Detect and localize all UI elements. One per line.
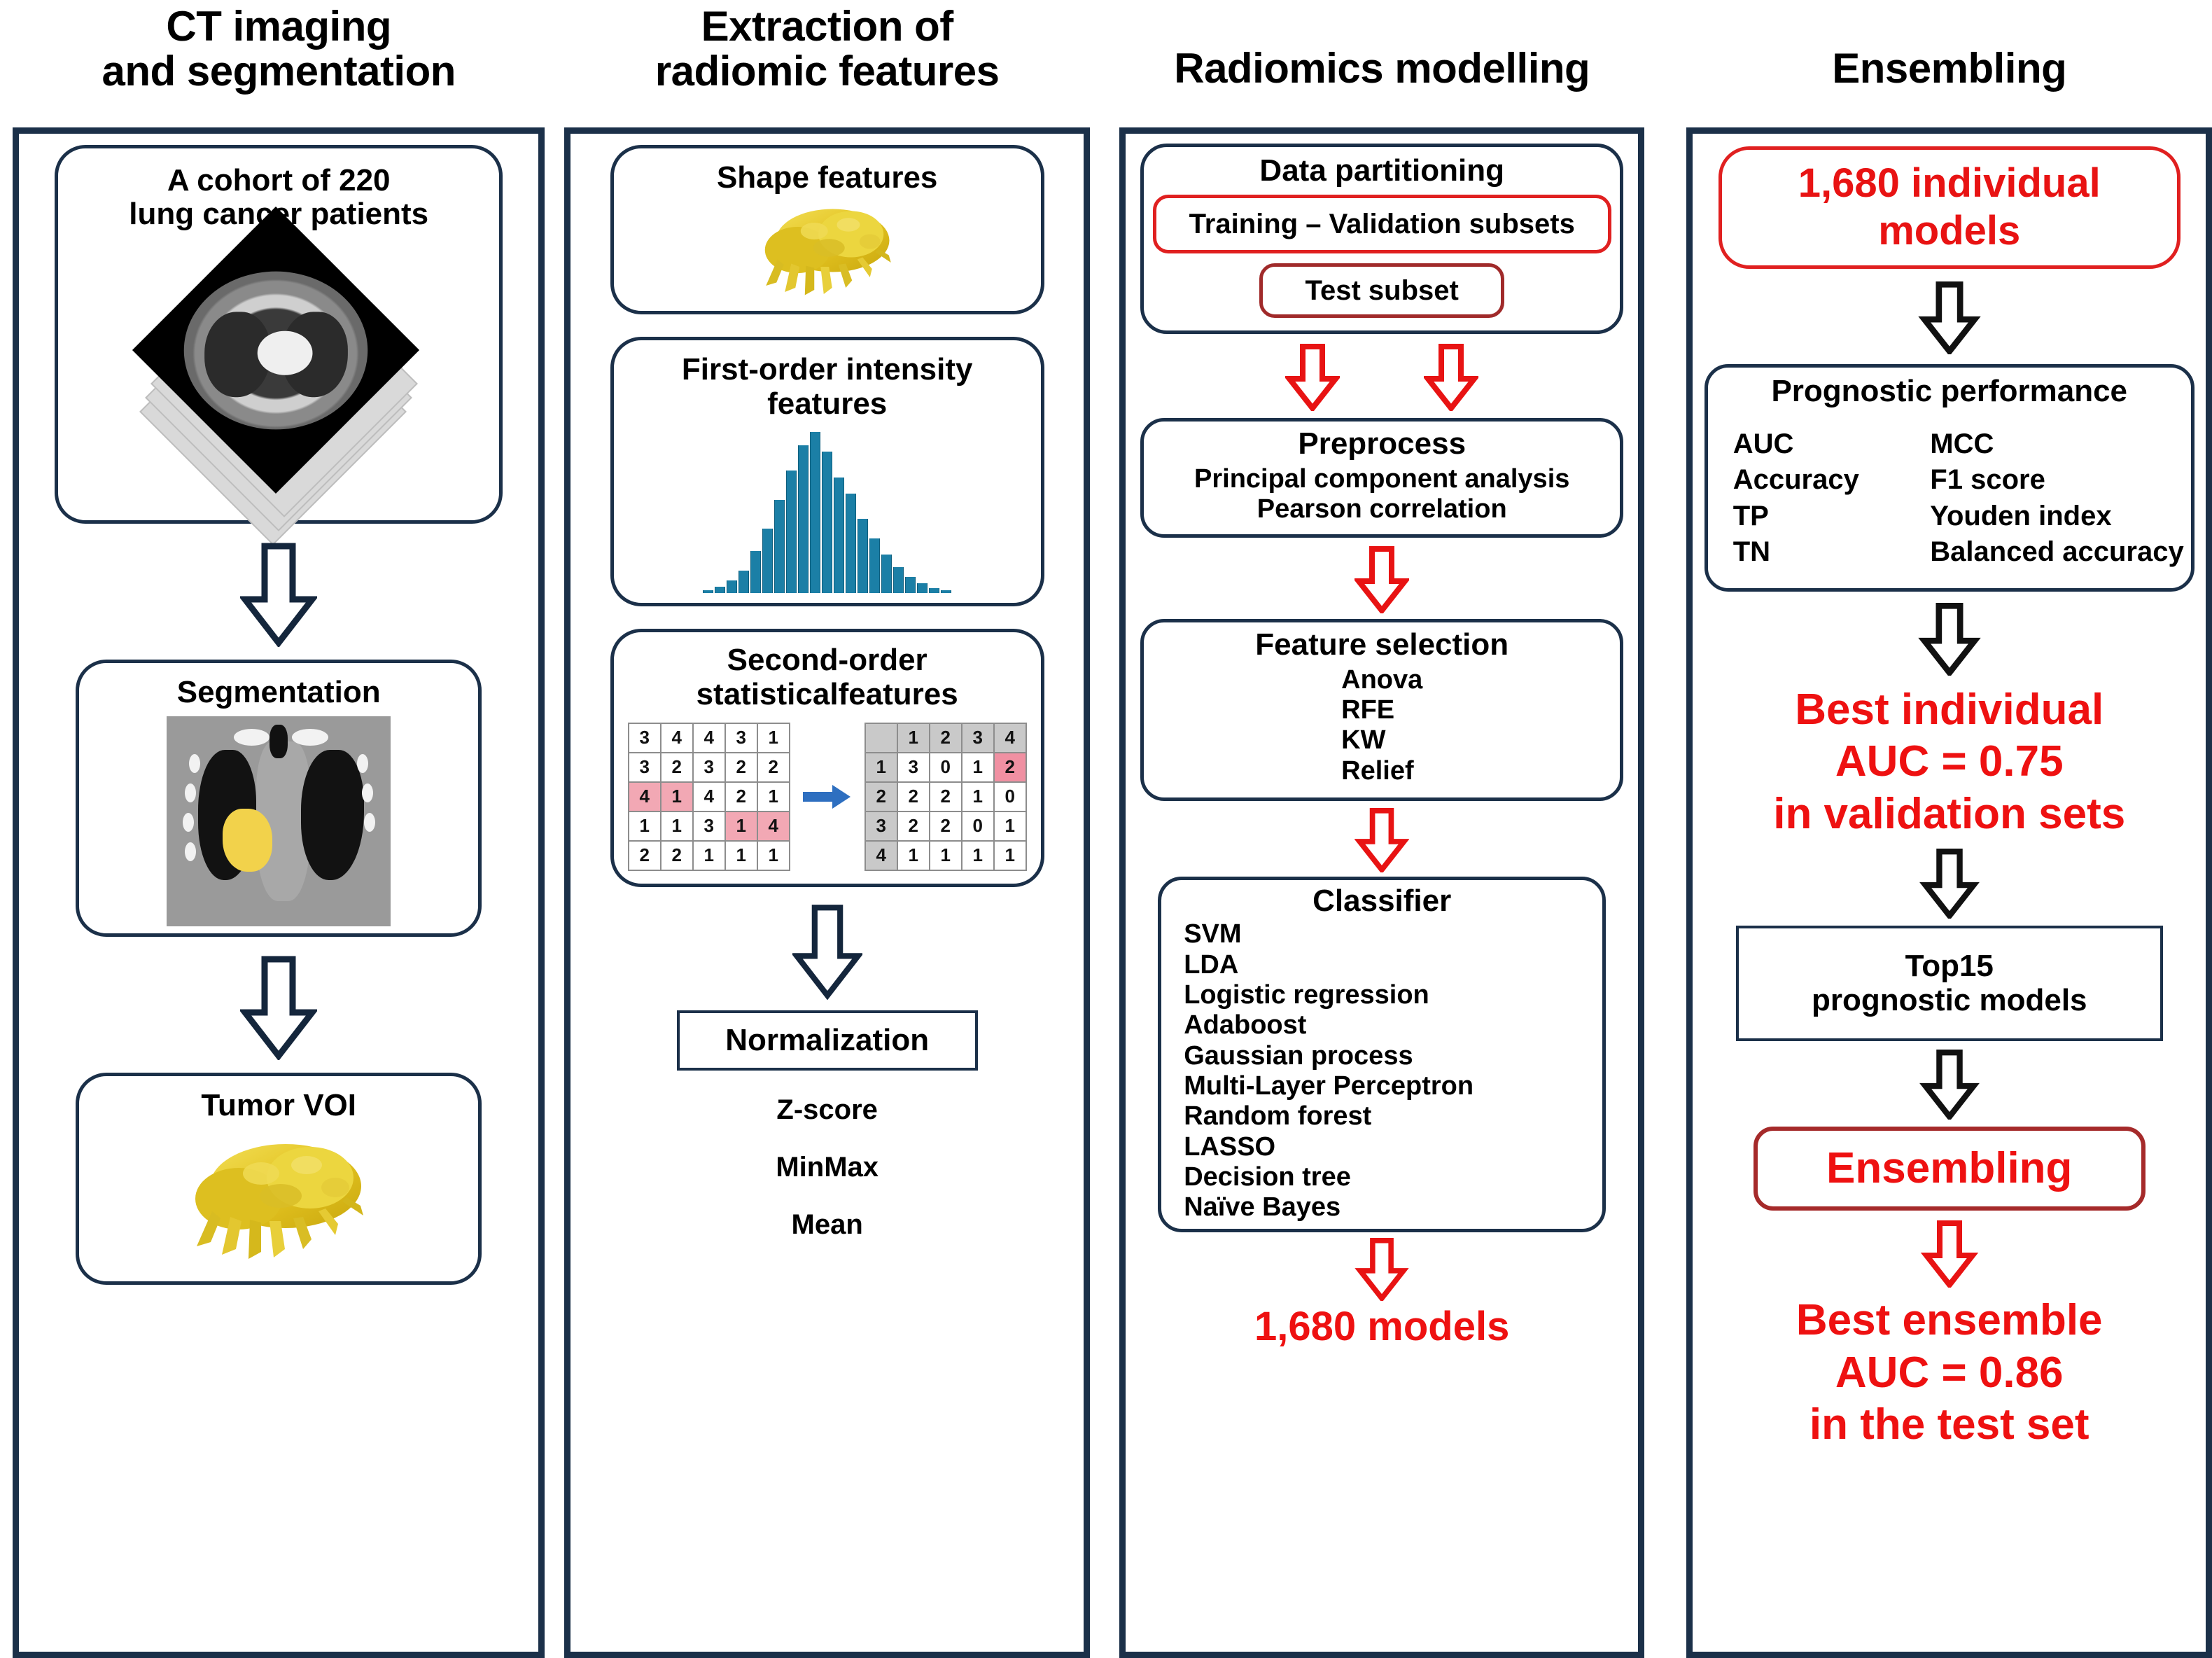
segmentation-ct-image xyxy=(167,716,391,926)
column-2-title: Extraction of radiomic features xyxy=(564,0,1090,127)
histogram-bar xyxy=(846,494,856,594)
classifier-item-4: Gaussian process xyxy=(1184,1041,1413,1071)
glcm-matrix-cell: 1 xyxy=(962,753,994,782)
column-2-title-line2: radiomic features xyxy=(655,49,1000,94)
segmentation-label: Segmentation xyxy=(177,676,381,709)
tumor-volume-icon xyxy=(163,1129,394,1269)
glcm-matrix-cell: 0 xyxy=(994,782,1026,811)
arrow-down-preprocess-to-feature-selection xyxy=(1354,546,1409,613)
histogram-bar xyxy=(929,588,939,593)
histogram-bar xyxy=(798,445,808,594)
glcm-patch-cell: 2 xyxy=(725,753,757,782)
histogram-bar xyxy=(810,432,820,593)
box-second-order-features: Second-order statisticalfeatures 3443132… xyxy=(610,629,1044,887)
second-order-label-line1: Second-order xyxy=(727,643,927,677)
glcm-patch-row: 34431 xyxy=(629,723,790,753)
glcm-header-row: 1234 xyxy=(865,723,1026,753)
box-preprocess: Preprocess Principal component analysis … xyxy=(1140,418,1623,538)
glcm-matrix-cell: 0 xyxy=(930,753,962,782)
glcm-patch-cell: 3 xyxy=(629,753,661,782)
glcm-patch-cell: 4 xyxy=(661,723,693,753)
glcm-patch-cell: 2 xyxy=(725,782,757,811)
glcm-patch-cell: 4 xyxy=(629,782,661,811)
glcm-col-header xyxy=(865,723,897,753)
ct-slice-stack-icon xyxy=(128,236,429,516)
glcm-matrix-row: 22210 xyxy=(865,782,1026,811)
data-partitioning-label: Data partitioning xyxy=(1259,154,1504,188)
glcm-patch-cell: 3 xyxy=(725,723,757,753)
glcm-matrix-cell: 1 xyxy=(930,841,962,870)
classifier-list: SVM LDA Logistic regression Adaboost Gau… xyxy=(1168,919,1595,1222)
metric-left-1: Accuracy xyxy=(1733,462,1907,498)
glcm-patch-cell: 1 xyxy=(693,841,725,870)
glcm-matrix-cell: 2 xyxy=(897,782,930,811)
glcm-matrix: 123413012222103220141111 xyxy=(864,723,1027,871)
intensity-histogram-chart xyxy=(703,432,951,593)
box-top15-models: Top15 prognostic models xyxy=(1736,926,2163,1041)
cohort-label-line1: A cohort of 220 xyxy=(167,164,391,197)
classifier-item-2: Logistic regression xyxy=(1184,980,1429,1010)
glcm-matrix-cell: 2 xyxy=(994,753,1026,782)
box-prognostic-performance: Prognostic performance AUC Accuracy TP T… xyxy=(1704,364,2194,592)
preprocess-item-0: Principal component analysis xyxy=(1194,464,1569,494)
metric-left-3: TN xyxy=(1733,534,1907,570)
panel-ct-imaging: A cohort of 220 lung cancer patients xyxy=(13,127,545,1658)
test-subset-label: Test subset xyxy=(1305,275,1459,307)
column-3-title: Radiomics modelling xyxy=(1119,0,1645,127)
arrow-down-cohort-to-segmentation xyxy=(240,542,317,647)
metrics-grid: AUC Accuracy TP TN MCC F1 score Youden i… xyxy=(1715,426,2184,570)
histogram-bar xyxy=(762,529,773,593)
histogram-bar xyxy=(857,519,868,593)
glcm-patch-cell: 3 xyxy=(629,723,661,753)
box-ensembling: Ensembling xyxy=(1753,1127,2145,1211)
classifier-item-3: Adaboost xyxy=(1184,1010,1306,1040)
glcm-patch-cell: 3 xyxy=(693,811,725,841)
glcm-matrix-cell: 3 xyxy=(897,753,930,782)
histogram-bar xyxy=(727,580,737,593)
glcm-col-header: 2 xyxy=(930,723,962,753)
glcm-patch-row: 41421 xyxy=(629,782,790,811)
arrow-down-red-right xyxy=(1424,344,1478,411)
histogram-bar xyxy=(834,478,844,594)
column-ct-imaging: CT imaging and segmentation A cohort of … xyxy=(13,0,545,1658)
best-ensemble-line3: in the test set xyxy=(1809,1399,2089,1451)
histogram-bar xyxy=(738,571,749,593)
column-feature-extraction: Extraction of radiomic features Shape fe… xyxy=(564,0,1090,1658)
glcm-row-header: 4 xyxy=(865,841,897,870)
arrow-down-top15-to-ensembling xyxy=(1919,1050,1980,1120)
box-data-partitioning: Data partitioning Training – Validation … xyxy=(1140,144,1623,334)
column-4-title: Ensembling xyxy=(1686,0,2212,127)
box-cohort: A cohort of 220 lung cancer patients xyxy=(55,145,503,524)
preprocess-label: Preprocess xyxy=(1298,427,1466,461)
individual-models-line2: models xyxy=(1878,207,2020,255)
models-total-label: 1,680 models xyxy=(1254,1302,1509,1351)
normalization-item-0: Z-score xyxy=(776,1089,878,1131)
glcm-matrix-cell: 0 xyxy=(962,811,994,841)
shape-features-label: Shape features xyxy=(717,161,937,195)
histogram-bar xyxy=(917,583,927,593)
glcm-matrix-cell: 1 xyxy=(962,841,994,870)
glcm-row-header: 2 xyxy=(865,782,897,811)
metric-right-2: Youden index xyxy=(1930,499,2183,534)
best-individual-block: Best individual AUC = 0.75 in validation… xyxy=(1773,684,2125,840)
glcm-col-header: 4 xyxy=(994,723,1026,753)
right-arrow-icon xyxy=(803,783,852,811)
metric-left-2: TP xyxy=(1733,499,1907,534)
panel-radiomics-modelling: Data partitioning Training – Validation … xyxy=(1119,127,1645,1658)
box-segmentation: Segmentation xyxy=(76,660,482,937)
training-validation-subsets-box: Training – Validation subsets xyxy=(1153,195,1611,253)
metric-right-3: Balanced accuracy xyxy=(1930,534,2183,570)
feature-selection-label: Feature selection xyxy=(1255,628,1508,662)
best-ensemble-line2: AUC = 0.86 xyxy=(1835,1347,2064,1399)
prognostic-performance-label: Prognostic performance xyxy=(1715,375,2184,408)
histogram-bar xyxy=(881,555,892,593)
top15-line1: Top15 xyxy=(1905,949,1994,983)
first-order-label-line1: First-order intensity xyxy=(682,353,973,386)
arrow-down-models-to-performance xyxy=(1918,281,1981,354)
glcm-matrix-row: 32201 xyxy=(865,811,1026,841)
panel-feature-extraction: Shape features xyxy=(564,127,1090,1658)
glcm-patch-cell: 4 xyxy=(693,723,725,753)
metric-right-0: MCC xyxy=(1930,426,2183,462)
glcm-patch-cell: 1 xyxy=(725,841,757,870)
tumor-voi-label: Tumor VOI xyxy=(201,1089,356,1122)
column-1-title: CT imaging and segmentation xyxy=(13,0,545,127)
feature-selection-item-1: RFE xyxy=(1341,695,1394,725)
glcm-matrix-cell: 1 xyxy=(994,811,1026,841)
normalization-label: Normalization xyxy=(725,1024,929,1057)
arrow-down-red-left xyxy=(1285,344,1340,411)
best-ensemble-block: Best ensemble AUC = 0.86 in the test set xyxy=(1796,1295,2103,1451)
histogram-bar xyxy=(774,500,785,593)
arrow-down-feature-selection-to-classifier xyxy=(1354,808,1409,872)
metrics-column-right: MCC F1 score Youden index Balanced accur… xyxy=(1930,426,2183,570)
glcm-patch-cell: 1 xyxy=(757,723,790,753)
glcm-patch-cell: 2 xyxy=(629,841,661,870)
histogram-bar xyxy=(703,590,713,594)
column-ensembling: Ensembling 1,680 individual models Progn… xyxy=(1686,0,2212,1658)
normalization-item-1: MinMax xyxy=(776,1146,878,1188)
histogram-bar xyxy=(893,567,904,593)
glcm-matrix-row: 13012 xyxy=(865,753,1026,782)
box-individual-models: 1,680 individual models xyxy=(1718,146,2180,269)
box-shape-features: Shape features xyxy=(610,145,1044,314)
classifier-item-1: LDA xyxy=(1184,950,1238,980)
histogram-bar xyxy=(786,471,797,593)
best-individual-line2: AUC = 0.75 xyxy=(1835,736,2064,788)
classifier-label: Classifier xyxy=(1312,884,1451,918)
glcm-row-header: 1 xyxy=(865,753,897,782)
glcm-patch-cell: 4 xyxy=(757,811,790,841)
glcm-row-header: 3 xyxy=(865,811,897,841)
glcm-patch-cell: 2 xyxy=(661,841,693,870)
individual-models-line1: 1,680 individual xyxy=(1798,160,2101,207)
column-1-title-line2: and segmentation xyxy=(102,49,456,94)
classifier-item-8: Decision tree xyxy=(1184,1162,1351,1192)
arrow-down-best-individual-to-top15 xyxy=(1919,849,1980,919)
column-2-title-line1: Extraction of xyxy=(655,4,1000,49)
glcm-patch-cell: 2 xyxy=(757,753,790,782)
glcm-patch-cell: 1 xyxy=(725,811,757,841)
best-individual-line3: in validation sets xyxy=(1773,788,2125,840)
histogram-bar xyxy=(750,551,761,593)
glcm-col-header: 3 xyxy=(962,723,994,753)
glcm-patch-cell: 2 xyxy=(661,753,693,782)
glcm-matrix-cell: 1 xyxy=(897,841,930,870)
histogram-bar xyxy=(941,590,951,594)
column-4-title-line1: Ensembling xyxy=(1832,46,2066,91)
best-individual-line1: Best individual xyxy=(1795,684,2103,736)
glcm-matrix-cell: 1 xyxy=(994,841,1026,870)
feature-selection-item-0: Anova xyxy=(1341,665,1422,695)
normalization-methods-list: Z-score MinMax Mean xyxy=(776,1089,878,1246)
arrow-down-classifier-to-models xyxy=(1354,1238,1409,1301)
arrows-partition-to-preprocess xyxy=(1285,344,1478,411)
classifier-item-9: Naïve Bayes xyxy=(1184,1192,1340,1222)
glcm-patch-cell: 1 xyxy=(661,782,693,811)
histogram-bar xyxy=(715,587,725,593)
box-feature-selection: Feature selection Anova RFE KW Relief xyxy=(1140,619,1623,801)
box-normalization: Normalization xyxy=(677,1010,978,1071)
glcm-patch-cell: 3 xyxy=(693,753,725,782)
metric-left-0: AUC xyxy=(1733,426,1907,462)
best-ensemble-line1: Best ensemble xyxy=(1796,1295,2103,1346)
test-subset-box: Test subset xyxy=(1259,263,1504,318)
glcm-matrix-cell: 2 xyxy=(930,782,962,811)
tumor-shape-icon xyxy=(729,197,925,302)
ensembling-label: Ensembling xyxy=(1826,1143,2072,1194)
glcm-patch-row: 32322 xyxy=(629,753,790,782)
feature-selection-item-3: Relief xyxy=(1341,756,1413,786)
arrow-down-ensembling-to-best-ensemble xyxy=(1920,1220,1979,1288)
column-1-title-line1: CT imaging xyxy=(102,4,456,49)
box-tumor-voi: Tumor VOI xyxy=(76,1073,482,1284)
glcm-patch-cell: 4 xyxy=(693,782,725,811)
classifier-item-6: Random forest xyxy=(1184,1101,1371,1131)
glcm-matrix-cell: 1 xyxy=(962,782,994,811)
glcm-patch-cell: 1 xyxy=(757,782,790,811)
glcm-illustration: 3443132322414211131422111 12341301222210… xyxy=(628,723,1027,871)
preprocess-item-1: Pearson correlation xyxy=(1257,494,1507,524)
glcm-matrix-cell: 2 xyxy=(930,811,962,841)
classifier-item-5: Multi-Layer Perceptron xyxy=(1184,1071,1473,1101)
glcm-patch-row: 22111 xyxy=(629,841,790,870)
glcm-col-header: 1 xyxy=(897,723,930,753)
second-order-label-line2: statisticalfeatures xyxy=(696,678,958,711)
histogram-bar xyxy=(822,452,832,593)
box-first-order-features: First-order intensity features xyxy=(610,337,1044,606)
metric-right-1: F1 score xyxy=(1930,462,2183,498)
glcm-patch-cell: 1 xyxy=(629,811,661,841)
glcm-patch-cell: 1 xyxy=(661,811,693,841)
column-3-title-line1: Radiomics modelling xyxy=(1174,46,1590,91)
feature-selection-item-2: KW xyxy=(1341,725,1385,755)
glcm-matrix-cell: 2 xyxy=(897,811,930,841)
glcm-matrix-row: 41111 xyxy=(865,841,1026,870)
training-validation-label: Training – Validation subsets xyxy=(1189,209,1575,240)
glcm-patch-row: 11314 xyxy=(629,811,790,841)
panel-ensembling: 1,680 individual models Prognostic perfo… xyxy=(1686,127,2212,1658)
arrow-down-performance-to-best-individual xyxy=(1918,603,1981,676)
column-radiomics-modelling: Radiomics modelling Data partitioning Tr… xyxy=(1119,0,1645,1658)
metrics-column-left: AUC Accuracy TP TN xyxy=(1733,426,1907,570)
classifier-item-0: SVM xyxy=(1184,919,1241,949)
first-order-label-line2: features xyxy=(767,387,887,421)
glcm-image-patch: 3443132322414211131422111 xyxy=(628,723,790,871)
box-classifier: Classifier SVM LDA Logistic regression A… xyxy=(1158,877,1606,1232)
arrow-down-to-normalization xyxy=(792,903,862,1001)
classifier-item-7: LASSO xyxy=(1184,1132,1275,1162)
workflow-diagram: CT imaging and segmentation A cohort of … xyxy=(0,0,2212,1658)
normalization-item-2: Mean xyxy=(792,1204,863,1246)
top15-line2: prognostic models xyxy=(1812,984,2087,1017)
arrow-down-segmentation-to-voi xyxy=(240,955,317,1060)
histogram-bar xyxy=(905,577,916,593)
histogram-bar xyxy=(869,538,880,593)
glcm-patch-cell: 1 xyxy=(757,841,790,870)
